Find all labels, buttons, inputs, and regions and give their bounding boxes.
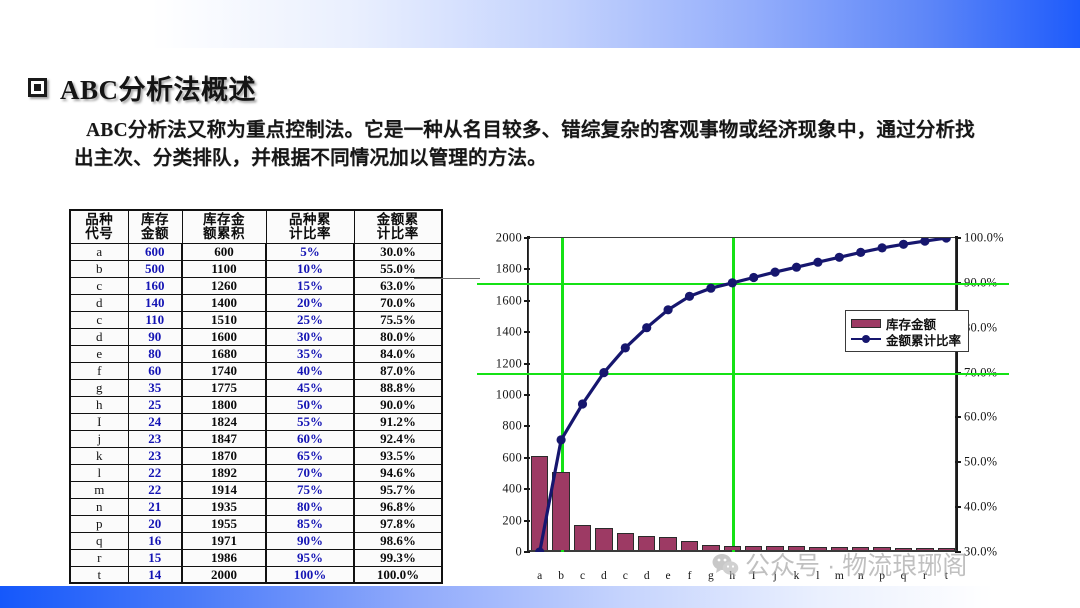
cell-amount: 25 [128, 396, 182, 413]
cell-code: r [70, 549, 128, 566]
table-body: a6006005%30.0%b500110010%55.0%c160126015… [70, 243, 442, 583]
cell-amount: 500 [128, 260, 182, 277]
top-gradient-banner [0, 0, 1080, 48]
cell-value-pct: 100.0% [354, 566, 442, 583]
x-axis-tick-label: p [879, 570, 885, 582]
cell-item-pct: 50% [266, 396, 354, 413]
cell-code: d [70, 294, 128, 311]
cell-item-pct: 15% [266, 277, 354, 294]
x-axis-tick-label: t [945, 570, 948, 582]
cell-code: n [70, 498, 128, 515]
table-row: d140140020%70.0% [70, 294, 442, 311]
cell-value-pct: 80.0% [354, 328, 442, 345]
table-header-row: 品种 代号 库存 金额 库存金 额累积 品种累 计比率 金额累 计比率 [70, 210, 442, 243]
cell-code: b [70, 260, 128, 277]
right-axis-tick-label: 100.0% [964, 231, 1004, 246]
x-axis-tick-label: r [923, 570, 927, 582]
x-axis-tick-label: k [794, 570, 800, 582]
table-row: t142000100%100.0% [70, 566, 442, 583]
cell-item-pct: 95% [266, 549, 354, 566]
cell-cumulative: 1935 [182, 498, 266, 515]
cell-amount: 22 [128, 481, 182, 498]
left-axis-tick-label: 800 [502, 419, 522, 434]
cell-code: g [70, 379, 128, 396]
paragraph-line-2: 出主次、分类排队，并根据不同情况加以管理的方法。 [74, 145, 1046, 173]
cell-value-pct: 96.8% [354, 498, 442, 515]
table-row: r15198695%99.3% [70, 549, 442, 566]
cell-cumulative: 1800 [182, 396, 266, 413]
cell-value-pct: 70.0% [354, 294, 442, 311]
cell-cumulative: 1824 [182, 413, 266, 430]
cell-item-pct: 10% [266, 260, 354, 277]
table-row: j23184760%92.4% [70, 430, 442, 447]
cell-item-pct: 90% [266, 532, 354, 549]
cell-cumulative: 1892 [182, 464, 266, 481]
page-title: ABC分析法概述 [60, 68, 256, 107]
cell-amount: 23 [128, 447, 182, 464]
x-axis-tick-label: n [858, 570, 864, 582]
cell-value-pct: 97.8% [354, 515, 442, 532]
col-header-amount-line2: 金额 [133, 227, 178, 241]
table-row: h25180050%90.0% [70, 396, 442, 413]
table-row: I24182455%91.2% [70, 413, 442, 430]
abc-analysis-table: 品种 代号 库存 金额 库存金 额累积 品种累 计比率 金额累 计比率 a600… [69, 209, 443, 584]
slide-title-row: ABC分析法概述 [28, 68, 256, 107]
cell-code: j [70, 430, 128, 447]
x-axis-tick-label: d [644, 570, 650, 582]
left-axis-tick-label: 1600 [496, 293, 522, 308]
cell-cumulative: 1510 [182, 311, 266, 328]
cell-code: l [70, 464, 128, 481]
cell-cumulative: 1260 [182, 277, 266, 294]
cell-code: I [70, 413, 128, 430]
cell-item-pct: 60% [266, 430, 354, 447]
right-axis-tick-label: 50.0% [964, 455, 997, 470]
col-header-value-pct-line1: 金额累 [359, 213, 438, 227]
table-row: f60174040%87.0% [70, 362, 442, 379]
cell-value-pct: 63.0% [354, 277, 442, 294]
x-axis-tick-label: g [708, 570, 714, 582]
cell-code: k [70, 447, 128, 464]
cell-code: c [70, 311, 128, 328]
cell-cumulative: 1400 [182, 294, 266, 311]
left-axis-tick-label: 0 [515, 545, 522, 560]
cell-value-pct: 98.6% [354, 532, 442, 549]
x-axis-tick-label: j [773, 570, 776, 582]
cell-amount: 22 [128, 464, 182, 481]
cell-item-pct: 85% [266, 515, 354, 532]
cell-cumulative: 1914 [182, 481, 266, 498]
cell-amount: 90 [128, 328, 182, 345]
cell-value-pct: 30.0% [354, 243, 442, 260]
col-header-amount-line1: 库存 [133, 213, 178, 227]
cell-item-pct: 45% [266, 379, 354, 396]
left-axis-tick-label: 1200 [496, 356, 522, 371]
left-axis-tick-label: 1800 [496, 262, 522, 277]
cell-item-pct: 55% [266, 413, 354, 430]
bullet-square-icon [28, 78, 47, 97]
cell-amount: 20 [128, 515, 182, 532]
cell-value-pct: 99.3% [354, 549, 442, 566]
table-row: p20195585%97.8% [70, 515, 442, 532]
cell-item-pct: 70% [266, 464, 354, 481]
table-row: c160126015%63.0% [70, 277, 442, 294]
cell-item-pct: 80% [266, 498, 354, 515]
cell-item-pct: 65% [266, 447, 354, 464]
cell-cumulative: 2000 [182, 566, 266, 583]
col-header-code: 品种 代号 [70, 210, 128, 243]
pareto-chart: 2000180016001400120010008006004002000100… [476, 224, 1060, 580]
x-axis-tick-label: b [558, 570, 564, 582]
cell-item-pct: 35% [266, 345, 354, 362]
paragraph-line-1: ABC分析法又称为重点控制法。它是一种从名目较多、错综复杂的客观事物或经济现象中… [86, 120, 975, 141]
x-axis-tick-label: f [688, 570, 692, 582]
cell-amount: 35 [128, 379, 182, 396]
cell-cumulative: 600 [182, 243, 266, 260]
cell-cumulative: 1775 [182, 379, 266, 396]
cell-cumulative: 1986 [182, 549, 266, 566]
cell-code: h [70, 396, 128, 413]
cell-value-pct: 55.0% [354, 260, 442, 277]
col-header-item-pct-line1: 品种累 [271, 213, 350, 227]
cell-cumulative: 1955 [182, 515, 266, 532]
col-header-cumulative-line2: 额累积 [187, 227, 262, 241]
cell-item-pct: 75% [266, 481, 354, 498]
cell-code: a [70, 243, 128, 260]
x-axis-tick-label: d [601, 570, 607, 582]
chart-legend: 库存金额金额累计比率 [845, 310, 969, 352]
legend-item: 金额累计比率 [851, 331, 961, 347]
callout-connector-line [414, 278, 480, 279]
col-header-item-pct-line2: 计比率 [271, 227, 350, 241]
cell-amount: 140 [128, 294, 182, 311]
cell-value-pct: 75.5% [354, 311, 442, 328]
col-header-code-line1: 品种 [75, 213, 124, 227]
cell-code: q [70, 532, 128, 549]
cell-code: m [70, 481, 128, 498]
table-row: e80168035%84.0% [70, 345, 442, 362]
cell-cumulative: 1680 [182, 345, 266, 362]
legend-item-label: 金额累计比率 [886, 330, 961, 349]
chart-plot-area: 2000180016001400120010008006004002000100… [528, 237, 956, 551]
table-row: c110151025%75.5% [70, 311, 442, 328]
cell-value-pct: 90.0% [354, 396, 442, 413]
cell-code: t [70, 566, 128, 583]
table-row: l22189270%94.6% [70, 464, 442, 481]
cell-code: e [70, 345, 128, 362]
cell-value-pct: 87.0% [354, 362, 442, 379]
col-header-cumulative-line1: 库存金 [187, 213, 262, 227]
cell-item-pct: 25% [266, 311, 354, 328]
left-axis-tick-label: 600 [502, 450, 522, 465]
cell-code: p [70, 515, 128, 532]
cell-value-pct: 84.0% [354, 345, 442, 362]
cell-amount: 23 [128, 430, 182, 447]
table-header: 品种 代号 库存 金额 库存金 额累积 品种累 计比率 金额累 计比率 [70, 210, 442, 243]
cell-amount: 21 [128, 498, 182, 515]
cell-cumulative: 1971 [182, 532, 266, 549]
cell-code: f [70, 362, 128, 379]
cell-amount: 600 [128, 243, 182, 260]
cell-item-pct: 100% [266, 566, 354, 583]
legend-bar-swatch-icon [851, 319, 881, 328]
x-axis-tick-label: l [816, 570, 819, 582]
cumulative-line-series [529, 238, 957, 552]
x-axis-tick-label: q [901, 570, 907, 582]
cell-value-pct: 93.5% [354, 447, 442, 464]
cell-amount: 80 [128, 345, 182, 362]
right-axis-tick-label: 40.0% [964, 500, 997, 515]
legend-line-swatch-icon [851, 335, 881, 344]
left-axis-tick-label: 2000 [496, 231, 522, 246]
left-axis-tick-label: 200 [502, 513, 522, 528]
bottom-gradient-banner [0, 586, 1080, 608]
col-header-amount: 库存 金额 [128, 210, 182, 243]
cell-value-pct: 92.4% [354, 430, 442, 447]
left-axis-tick-label: 400 [502, 482, 522, 497]
cell-amount: 24 [128, 413, 182, 430]
cell-cumulative: 1600 [182, 328, 266, 345]
col-header-value-pct: 金额累 计比率 [354, 210, 442, 243]
col-header-cumulative: 库存金 额累积 [182, 210, 266, 243]
cell-value-pct: 88.8% [354, 379, 442, 396]
cell-item-pct: 30% [266, 328, 354, 345]
cell-amount: 160 [128, 277, 182, 294]
x-axis-tick-label: c [580, 570, 585, 582]
right-axis-tick-label: 30.0% [964, 545, 997, 560]
table-row: m22191475%95.7% [70, 481, 442, 498]
cell-item-pct: 5% [266, 243, 354, 260]
table-row: q16197190%98.6% [70, 532, 442, 549]
cell-code: d [70, 328, 128, 345]
col-header-code-line2: 代号 [75, 227, 124, 241]
x-axis-tick-label: c [623, 570, 628, 582]
cell-cumulative: 1100 [182, 260, 266, 277]
cell-amount: 110 [128, 311, 182, 328]
x-axis-tick-label: e [666, 570, 671, 582]
left-axis-tick-label: 1400 [496, 325, 522, 340]
x-axis-tick-label: I [752, 570, 756, 582]
table-row: d90160030%80.0% [70, 328, 442, 345]
x-axis-tick-label: m [835, 570, 844, 582]
cell-amount: 14 [128, 566, 182, 583]
cell-value-pct: 94.6% [354, 464, 442, 481]
col-header-value-pct-line2: 计比率 [359, 227, 438, 241]
cell-value-pct: 91.2% [354, 413, 442, 430]
table-row: k23187065%93.5% [70, 447, 442, 464]
table-row: a6006005%30.0% [70, 243, 442, 260]
cell-value-pct: 95.7% [354, 481, 442, 498]
right-axis-tick-label: 60.0% [964, 410, 997, 425]
cell-cumulative: 1870 [182, 447, 266, 464]
intro-paragraph: ABC分析法又称为重点控制法。它是一种从名目较多、错综复杂的客观事物或经济现象中… [86, 117, 1046, 172]
cell-amount: 15 [128, 549, 182, 566]
left-axis-tick-label: 1000 [496, 388, 522, 403]
cell-item-pct: 40% [266, 362, 354, 379]
table-row: n21193580%96.8% [70, 498, 442, 515]
table-row: g35177545%88.8% [70, 379, 442, 396]
cell-item-pct: 20% [266, 294, 354, 311]
x-axis-tick-label: h [729, 570, 735, 582]
cell-amount: 16 [128, 532, 182, 549]
cell-cumulative: 1740 [182, 362, 266, 379]
table-row: b500110010%55.0% [70, 260, 442, 277]
cell-amount: 60 [128, 362, 182, 379]
cell-code: c [70, 277, 128, 294]
cell-cumulative: 1847 [182, 430, 266, 447]
x-axis-tick-label: a [537, 570, 542, 582]
col-header-item-pct: 品种累 计比率 [266, 210, 354, 243]
